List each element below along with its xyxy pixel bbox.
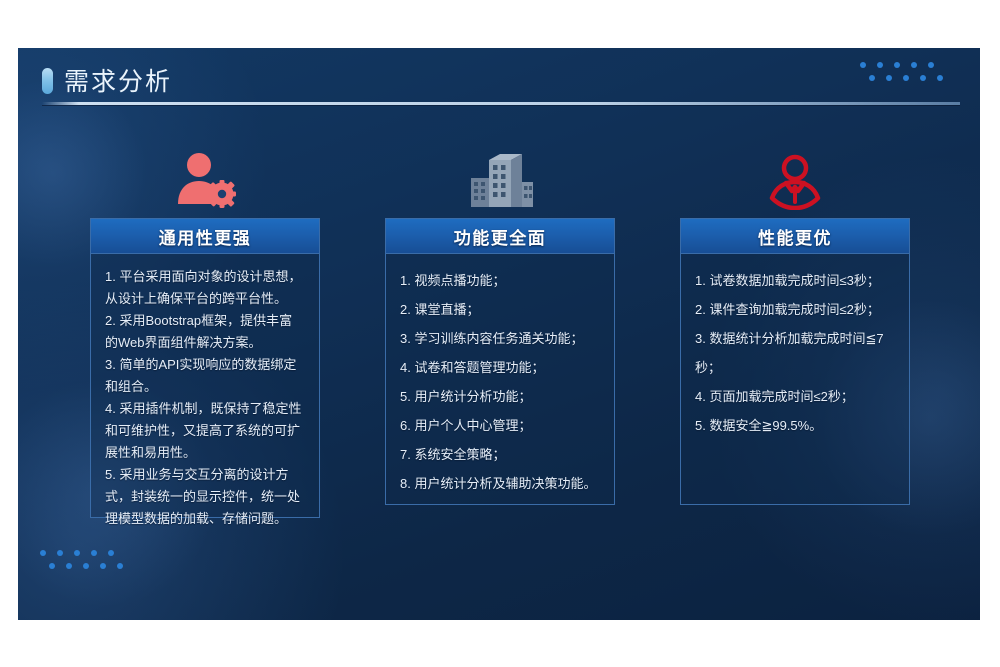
card-line: 1. 试卷数据加载完成时间≤3秒； [695,266,895,295]
card-line: 1. 视频点播功能； [400,266,600,295]
card-line: 6. 用户个人中心管理； [400,411,600,440]
card-line: 5. 采用业务与交互分离的设计方式，封装统一的显示控件，统一处理模型数据的加载、… [105,464,305,530]
card-line: 7. 系统安全策略； [400,440,600,469]
dot [860,62,866,68]
slide-header: 需求分析 [18,48,980,120]
card-generality[interactable]: 通用性更强 1. 平台采用面向对象的设计思想，从设计上确保平台的跨平台性。 2.… [90,144,320,518]
dot-row [860,62,954,68]
office-buildings-icon [385,144,615,210]
card-line: 2. 采用Bootstrap框架，提供丰富的Web界面组件解决方案。 [105,310,305,354]
card-line: 5. 用户统计分析功能； [400,382,600,411]
dot [937,75,943,81]
page-title: 需求分析 [64,62,172,98]
card-line: 3. 简单的API实现响应的数据绑定和组合。 [105,354,305,398]
card-header: 性能更优 [681,219,909,254]
dot [100,563,106,569]
dot-row [40,550,134,556]
slide-canvas: 需求分析 [18,48,980,620]
dot [83,563,89,569]
dot [57,550,63,556]
card-body: 1. 试卷数据加载完成时间≤3秒； 2. 课件查询加载完成时间≤2秒； 3. 数… [681,254,909,454]
header-divider [42,102,960,105]
card-header: 功能更全面 [386,219,614,254]
card-box: 性能更优 1. 试卷数据加载完成时间≤3秒； 2. 课件查询加载完成时间≤2秒；… [680,218,910,505]
card-title: 性能更优 [758,224,832,249]
user-settings-icon [90,144,320,210]
card-line: 8. 用户统计分析及辅助决策功能。 [400,469,600,498]
card-line: 4. 试卷和答题管理功能； [400,353,600,382]
dot [911,62,917,68]
card-body: 1. 视频点播功能； 2. 课堂直播； 3. 学习训练内容任务通关功能； 4. … [386,254,614,512]
card-box: 通用性更强 1. 平台采用面向对象的设计思想，从设计上确保平台的跨平台性。 2.… [90,218,320,518]
dot [66,563,72,569]
dot [886,75,892,81]
dot [40,550,46,556]
dot-grid-icon-bottom-left [40,550,134,569]
card-line: 3. 数据统计分析加载完成时间≦7秒； [695,324,895,382]
card-line: 4. 采用插件机制，既保持了稳定性和可维护性，又提高了系统的可扩展性和易用性。 [105,398,305,464]
card-title: 通用性更强 [159,224,252,249]
card-body: 1. 平台采用面向对象的设计思想，从设计上确保平台的跨平台性。 2. 采用Boo… [91,254,319,544]
dot [91,550,97,556]
pill-bullet-icon [42,68,53,94]
card-title: 功能更全面 [454,224,547,249]
card-header: 通用性更强 [91,219,319,254]
dot-row [49,563,134,569]
dot-row [869,75,954,81]
card-line: 4. 页面加载完成时间≤2秒； [695,382,895,411]
card-line: 5. 数据安全≧99.5%。 [695,411,895,440]
dot [903,75,909,81]
dot [894,62,900,68]
dot [49,563,55,569]
dot [877,62,883,68]
card-line: 3. 学习训练内容任务通关功能； [400,324,600,353]
card-line: 2. 课件查询加载完成时间≤2秒； [695,295,895,324]
dot [869,75,875,81]
dot [920,75,926,81]
dot [117,563,123,569]
card-line: 1. 平台采用面向对象的设计思想，从设计上确保平台的跨平台性。 [105,266,305,310]
dot [108,550,114,556]
dot-grid-icon-top-right [860,62,954,81]
dot [928,62,934,68]
card-performance[interactable]: 性能更优 1. 试卷数据加载完成时间≤3秒； 2. 课件查询加载完成时间≤2秒；… [680,144,910,505]
cards-row: 通用性更强 1. 平台采用面向对象的设计思想，从设计上确保平台的跨平台性。 2.… [18,144,980,574]
card-box: 功能更全面 1. 视频点播功能； 2. 课堂直播； 3. 学习训练内容任务通关功… [385,218,615,505]
card-line: 2. 课堂直播； [400,295,600,324]
user-outline-icon [680,144,910,210]
card-functionality[interactable]: 功能更全面 1. 视频点播功能； 2. 课堂直播； 3. 学习训练内容任务通关功… [385,144,615,505]
dot [74,550,80,556]
